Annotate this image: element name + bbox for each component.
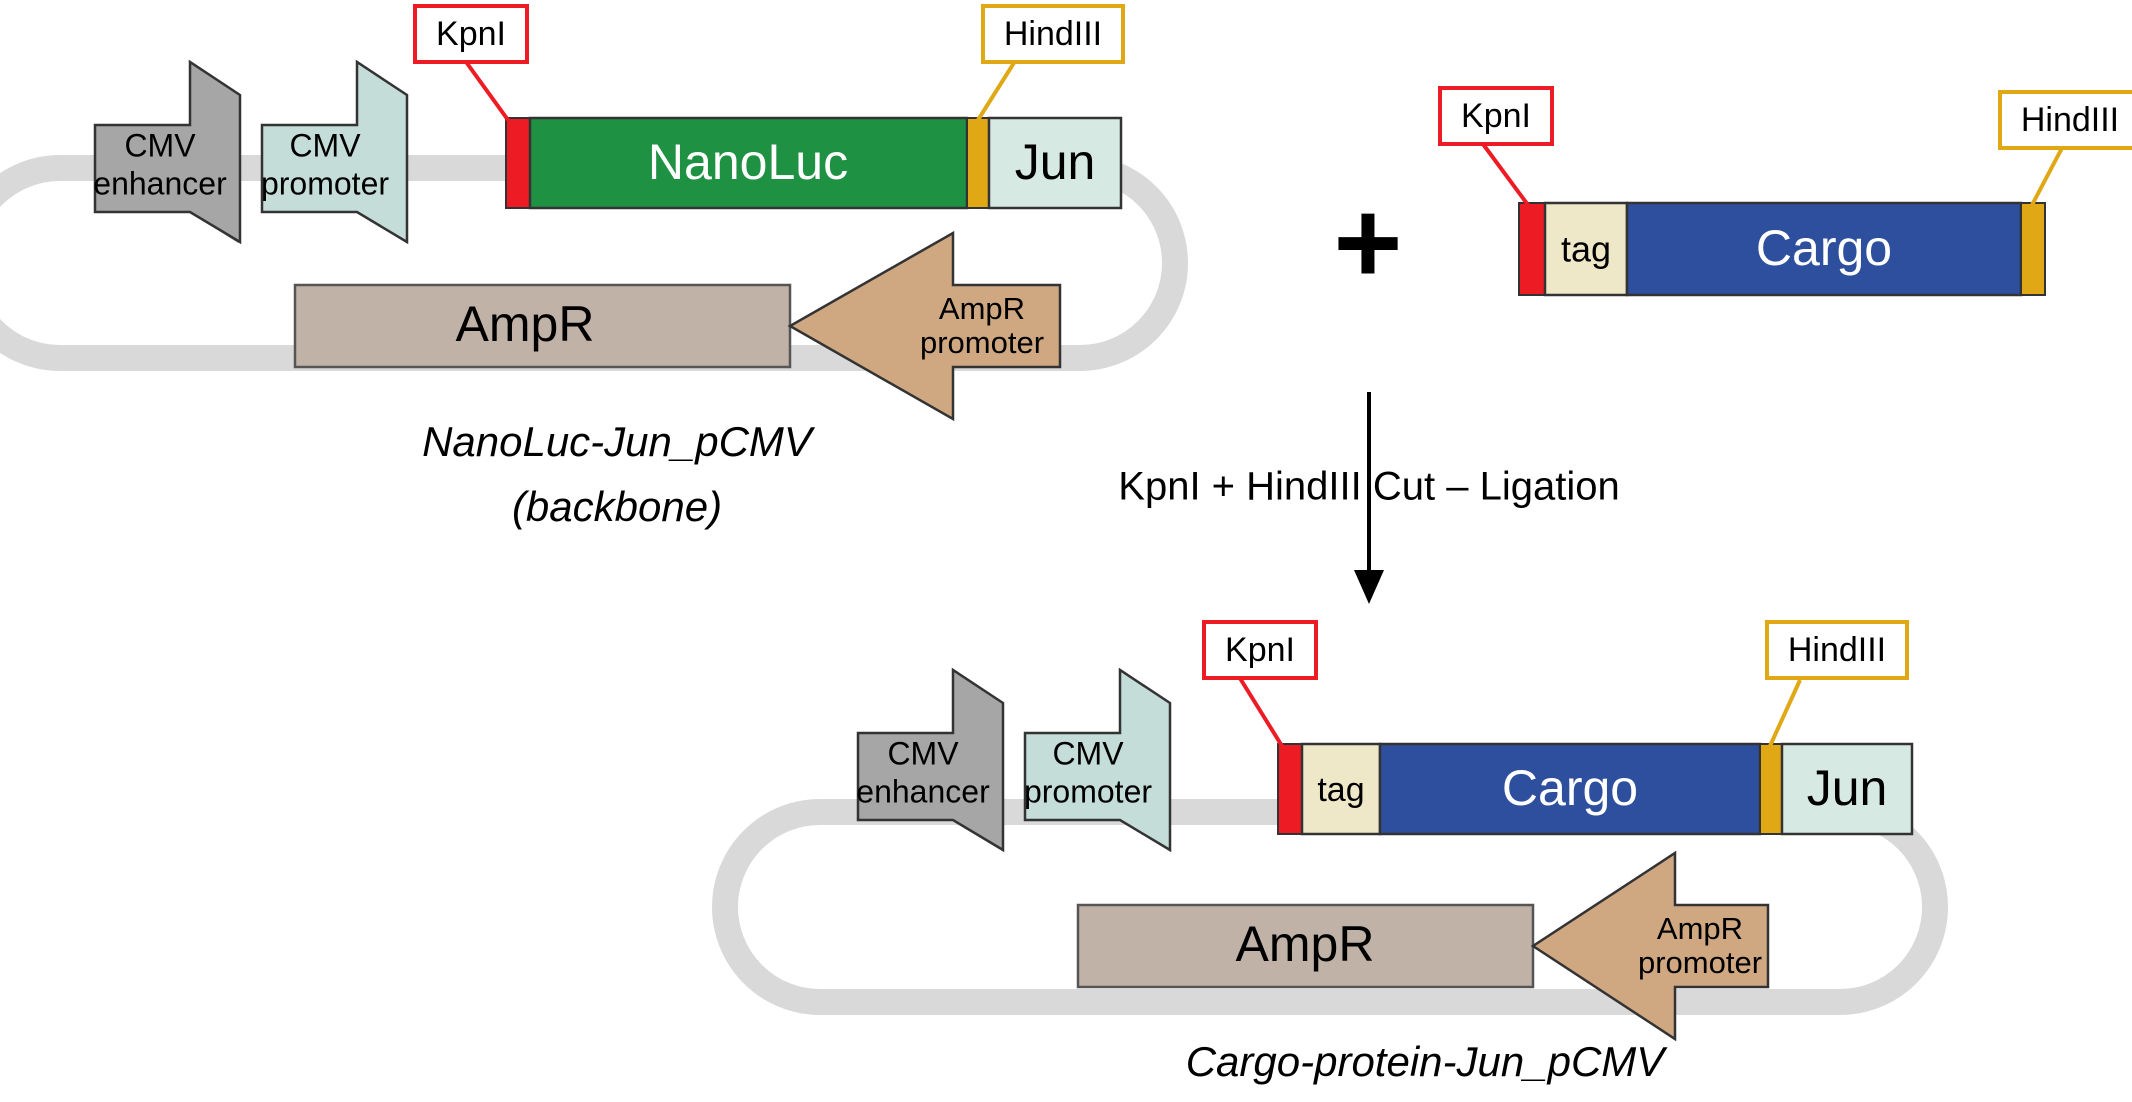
insert-hindiii-site-bar [2021,203,2045,295]
backbone-plasmid-name-line2: (backbone) [512,483,722,530]
product-tag-label: tag [1317,771,1364,809]
insert-kpni-label: KpnI [1461,97,1531,135]
feature-ampr: AmpR [295,285,790,367]
insert-hindiii-label: HindIII [2021,101,2119,139]
product-hindiii-label: HindIII [1788,631,1886,669]
insert-cargo-label: Cargo [1756,220,1892,276]
product-cargo-label: Cargo [1502,760,1638,816]
reaction-step-label: KpnI + HindIII Cut – Ligation [1118,465,1619,509]
jun-label: Jun [1015,134,1096,190]
product-cmv-promoter-label-line1: CMV [1052,735,1124,771]
cmv-enhancer-label-line1: CMV [124,127,196,163]
cmv-enhancer-label-line2: enhancer [93,165,227,201]
product-feature-tag: tag [1302,744,1380,834]
kpni-label: KpnI [436,15,506,53]
feature-nanoluc: NanoLuc [530,118,967,208]
plus-operator: + [1334,177,1403,309]
nanoluc-label: NanoLuc [648,134,848,190]
product-ampr-promoter-label-line1: AmpR [1657,911,1743,946]
product-plasmid-name: Cargo-protein-Jun_pCMV [1186,1038,1669,1085]
product-feature-cargo: Cargo [1380,744,1760,834]
product-cmv-enhancer-label-line1: CMV [887,735,959,771]
product-kpni-site-bar [1278,744,1302,834]
product-feature-jun: Jun [1782,744,1912,834]
product-cmv-enhancer-label-line2: enhancer [856,773,990,809]
feature-jun: Jun [989,118,1121,208]
ampr-label: AmpR [456,296,595,352]
product-kpni-label: KpnI [1225,631,1295,669]
product-ampr-label: AmpR [1236,916,1375,972]
product-cmv-promoter-label-line2: promoter [1024,773,1152,809]
backbone-plasmid-name-line1: NanoLuc-Jun_pCMV [422,418,816,465]
ampr-promoter-label-line2: promoter [920,325,1044,360]
insert-feature-cargo: Cargo [1627,203,2021,295]
cmv-promoter-label-line2: promoter [261,165,389,201]
hindiii-label: HindIII [1004,15,1102,53]
cloning-diagram: CMV enhancer CMV promoter NanoLuc Jun Am… [0,0,2132,1102]
insert-kpni-site-bar [1519,203,1545,295]
insert-feature-tag: tag [1545,203,1627,295]
ampr-promoter-label-line1: AmpR [939,291,1025,326]
product-ampr-promoter-label-line2: promoter [1638,945,1762,980]
cmv-promoter-label-line1: CMV [289,127,361,163]
product-hindiii-site-bar [1760,744,1782,834]
kpni-site-bar [506,118,530,208]
insert-tag-label: tag [1561,229,1611,270]
product-feature-ampr: AmpR [1078,905,1533,987]
product-jun-label: Jun [1807,760,1888,816]
hindiii-site-bar [967,118,989,208]
